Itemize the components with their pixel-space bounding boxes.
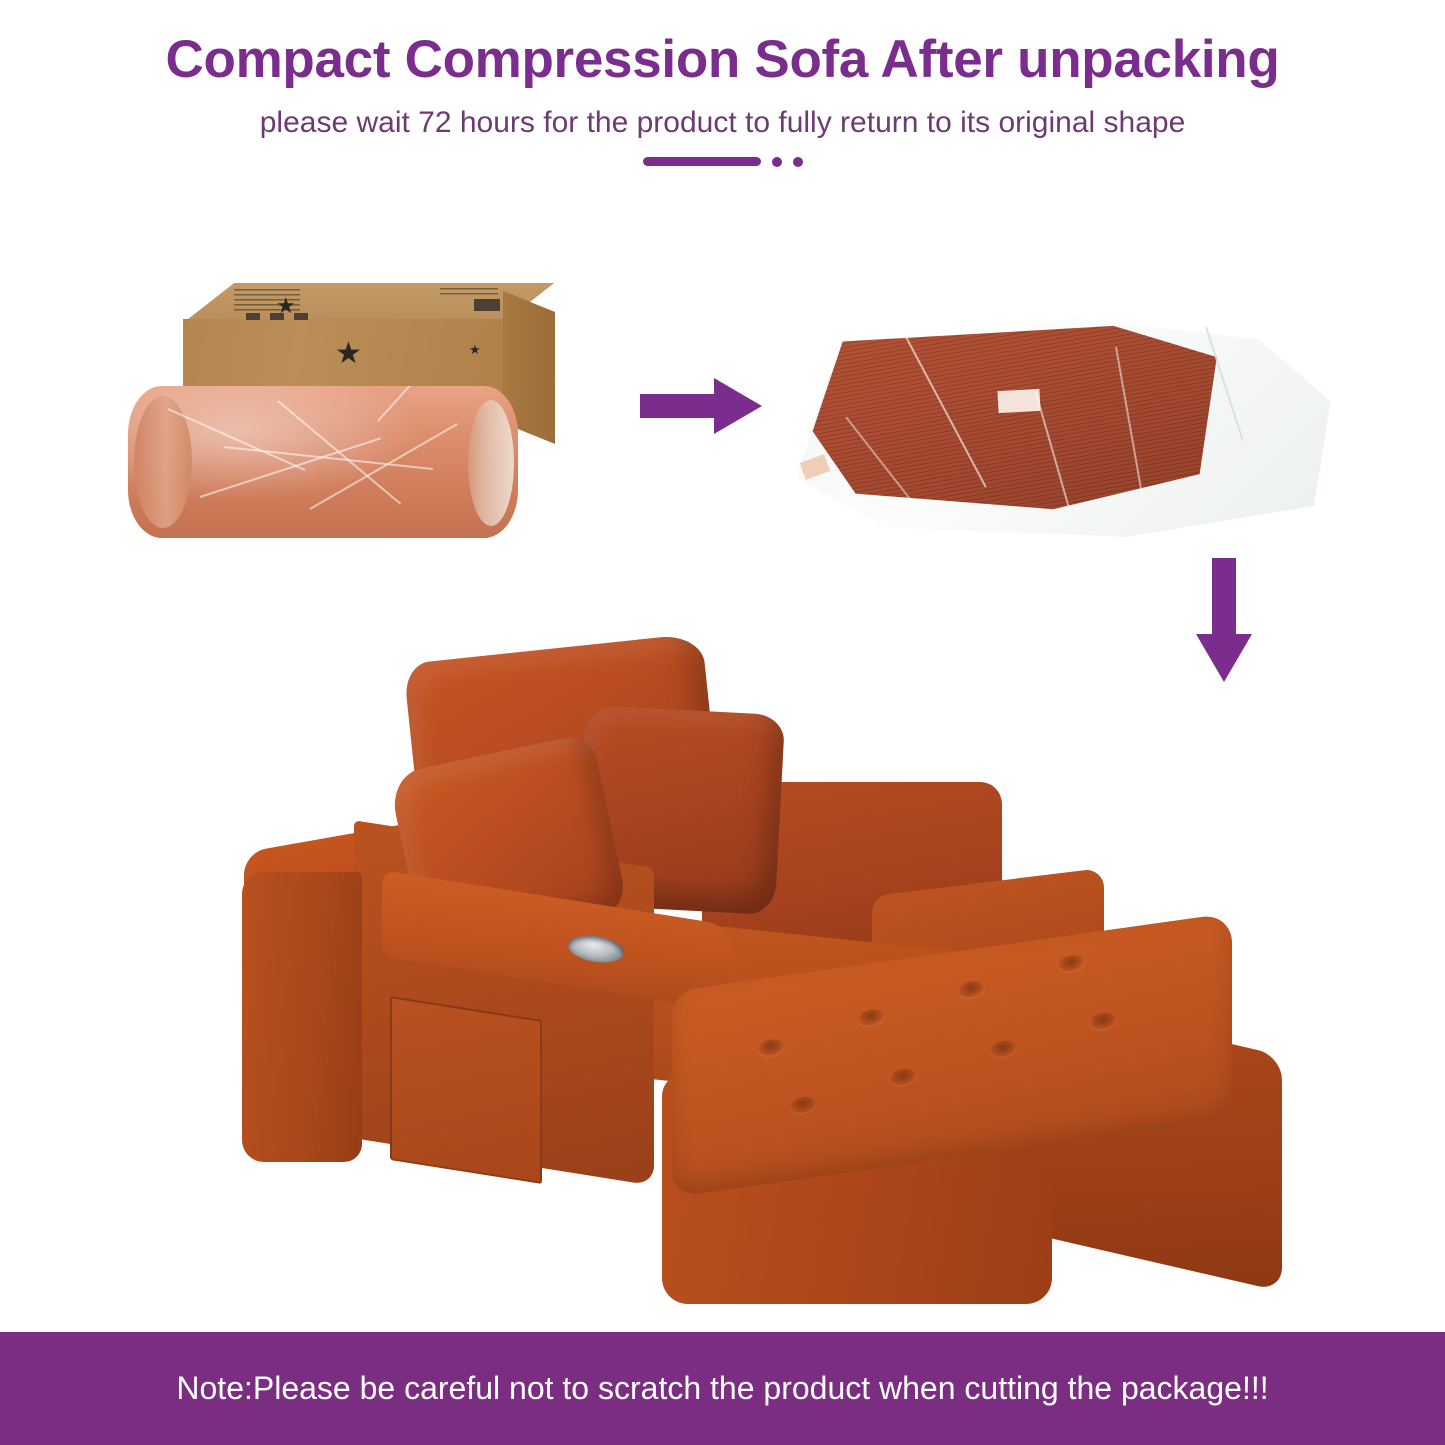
star-icon: ★	[469, 343, 481, 356]
tufted-button	[890, 1067, 916, 1087]
divider-ornament	[0, 141, 1445, 167]
page-subtitle: please wait 72 hours for the product to …	[0, 91, 1445, 141]
divider-dot-icon	[793, 157, 803, 167]
star-icon: ★	[335, 339, 362, 369]
carton-print-mark	[474, 299, 500, 311]
plastic-wrap-streak	[224, 446, 433, 470]
sofa-side-pocket	[390, 996, 542, 1184]
note-text: Note:Please be careful not to scratch th…	[176, 1369, 1268, 1407]
sofa-arm-front	[242, 872, 362, 1162]
header: Compact Compression Sofa After unpacking…	[0, 0, 1445, 167]
tufted-button	[1058, 953, 1084, 973]
note-banner: Note:Please be careful not to scratch th…	[0, 1332, 1445, 1445]
infographic-page: Compact Compression Sofa After unpacking…	[0, 0, 1445, 1445]
carton-print-mark	[294, 313, 308, 320]
tufted-button	[990, 1039, 1016, 1059]
star-icon: ★	[276, 295, 296, 317]
tufted-button	[958, 980, 984, 1000]
roll-right-end	[468, 400, 514, 526]
divider-dot-icon	[772, 157, 782, 167]
tufted-button	[790, 1095, 816, 1115]
plastic-wrap-streak	[377, 386, 459, 422]
divider-bar-icon	[643, 157, 761, 166]
expanded-sofa-illustration	[232, 636, 1312, 1256]
carton-origin-text	[440, 288, 498, 295]
arrow-right-icon	[640, 378, 762, 434]
carton-print-mark	[246, 313, 260, 320]
rolled-sofa-in-plastic	[128, 386, 518, 538]
page-title: Compact Compression Sofa After unpacking	[0, 0, 1445, 91]
tufted-button	[1090, 1011, 1116, 1031]
compressed-sofa-bag-illustration	[786, 306, 1336, 544]
tufted-button	[858, 1008, 884, 1028]
plastic-wrap-streak	[310, 423, 458, 510]
rolled-sofa-body	[128, 386, 518, 538]
tufted-button	[758, 1038, 784, 1058]
